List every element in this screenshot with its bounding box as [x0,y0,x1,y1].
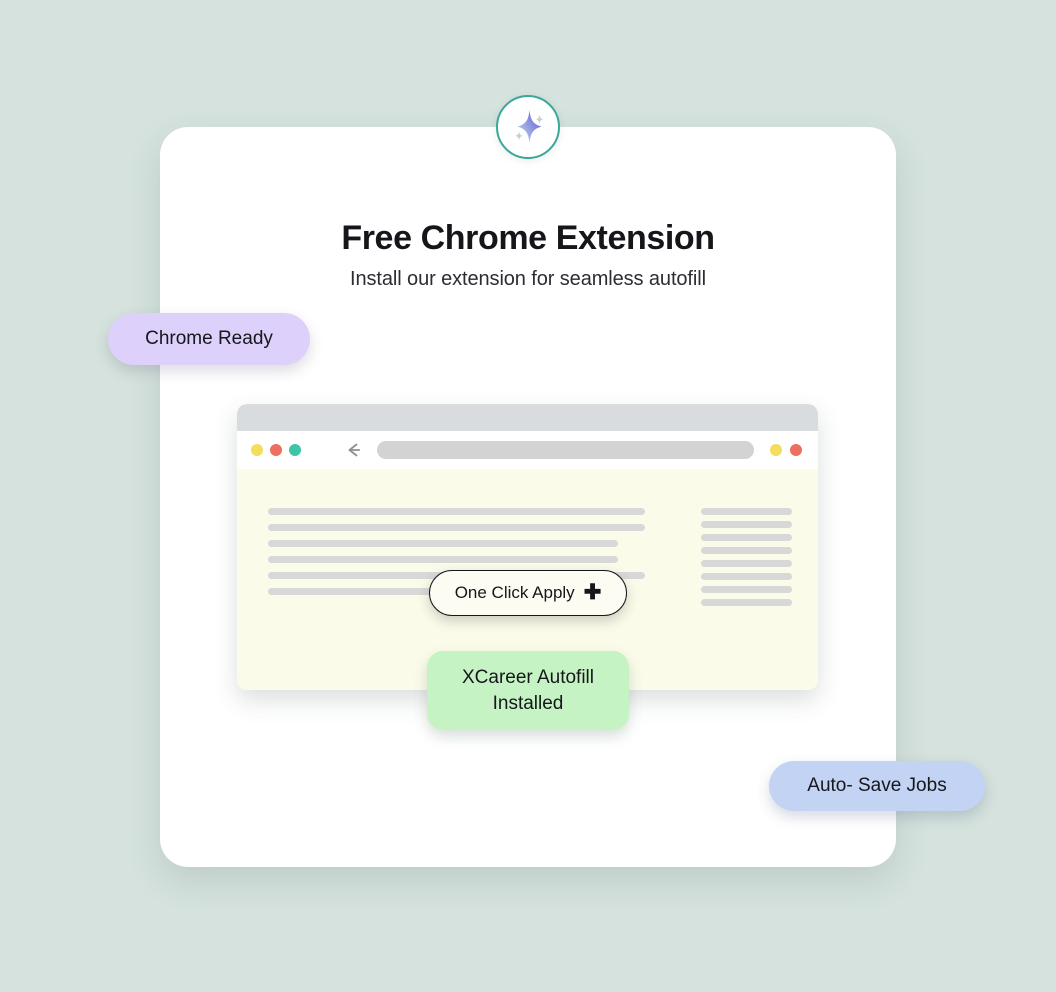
window-dot-yellow[interactable] [251,444,263,456]
toolbar-dot-yellow[interactable] [770,444,782,456]
one-click-apply-button[interactable]: One Click Apply ✚ [429,570,627,616]
badge-auto-save-jobs-label: Auto- Save Jobs [807,775,946,797]
skeleton-line [701,508,792,515]
plus-sparkle-icon: ✚ [584,582,602,603]
skeleton-line [701,534,792,541]
skeleton-line [701,599,792,606]
window-dot-red[interactable] [270,444,282,456]
browser-tab-strip [237,404,818,431]
badge-chrome-ready: Chrome Ready [108,313,310,365]
page-subtitle: Install our extension for seamless autof… [160,268,896,291]
app-logo-badge [496,95,560,159]
sparkle-star-icon [507,106,549,148]
arrow-left-icon[interactable] [343,440,363,460]
browser-mockup [237,404,818,690]
header-block: Free Chrome Extension Install our extens… [160,219,896,291]
skeleton-line [701,521,792,528]
skeleton-column-right [701,508,792,690]
skeleton-line [268,508,645,515]
toolbar-dot-red[interactable] [790,444,802,456]
skeleton-line [701,547,792,554]
window-controls [251,444,301,456]
skeleton-line [701,560,792,567]
badge-chrome-ready-label: Chrome Ready [145,328,273,350]
window-dot-teal[interactable] [289,444,301,456]
skeleton-line [268,556,618,563]
toolbar-extension-icons [770,444,802,456]
browser-toolbar [237,431,818,469]
skeleton-line [268,540,618,547]
badge-autofill-installed: XCareer Autofill Installed [427,651,629,730]
url-bar[interactable] [377,441,754,459]
page-title: Free Chrome Extension [160,219,896,258]
badge-autofill-installed-line2: Installed [493,693,564,714]
badge-autofill-installed-line1: XCareer Autofill [462,667,594,688]
badge-autofill-installed-text: XCareer Autofill Installed [462,665,594,716]
skeleton-line [268,524,645,531]
skeleton-line [701,586,792,593]
badge-auto-save-jobs: Auto- Save Jobs [769,761,985,811]
skeleton-line [701,573,792,580]
one-click-apply-label: One Click Apply [455,583,575,603]
